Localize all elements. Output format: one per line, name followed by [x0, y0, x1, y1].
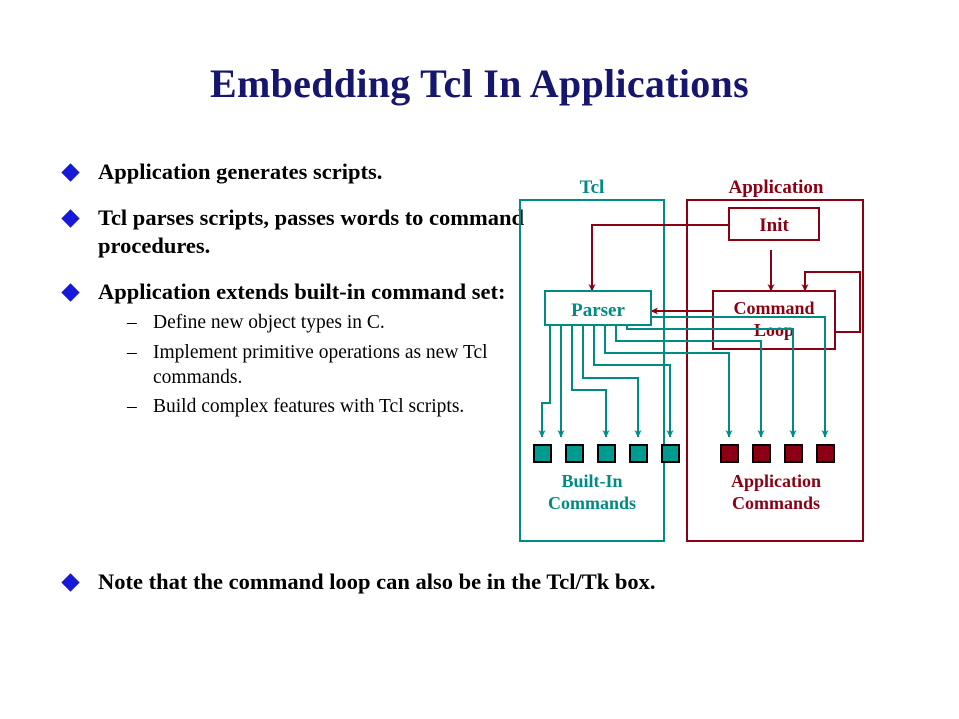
application-panel-label: Application [728, 177, 823, 198]
list-item: Tcl parses scripts, passes words to comm… [60, 204, 530, 261]
sub-bullet-text: Build complex features with Tcl scripts. [153, 394, 530, 419]
diamond-bullet-icon [61, 283, 79, 301]
builtin-command-square [662, 445, 679, 462]
diamond-bullet-icon [61, 163, 79, 181]
sub-list-item: – Build complex features with Tcl script… [98, 394, 530, 419]
application-command-square [721, 445, 738, 462]
builtin-command-square [566, 445, 583, 462]
dash-bullet-icon: – [127, 394, 153, 419]
builtin-commands-label-line1: Built-In [561, 471, 622, 491]
sub-list-item: – Define new object types in C. [98, 310, 530, 335]
list-item: Application generates scripts. [60, 158, 530, 187]
note-list-item: Note that the command loop can also be i… [60, 568, 910, 597]
tcl-panel-label: Tcl [580, 177, 605, 198]
parser-box-label: Parser [571, 300, 625, 321]
dash-bullet-icon: – [127, 310, 153, 335]
note-text: Note that the command loop can also be i… [98, 568, 910, 597]
embedding-architecture-diagram: Tcl Application Init Command Loop Parser… [505, 160, 885, 560]
builtin-command-square [598, 445, 615, 462]
init-to-parser-arrow [592, 225, 729, 291]
dash-bullet-icon: – [127, 340, 153, 365]
sub-bullet-text: Define new object types in C. [153, 310, 530, 335]
diamond-bullet-icon [61, 209, 79, 227]
builtin-commands-label-line2: Commands [548, 493, 636, 513]
sub-bullet-list: – Define new object types in C. – Implem… [98, 310, 530, 419]
sub-bullet-text: Implement primitive operations as new Tc… [153, 340, 530, 391]
bullet-list: Application generates scripts. Tcl parse… [60, 158, 530, 437]
application-command-square [785, 445, 802, 462]
application-command-square [753, 445, 770, 462]
bullet-text: Tcl parses scripts, passes words to comm… [98, 204, 530, 261]
parser-to-builtin-3 [572, 325, 606, 437]
diamond-bullet-icon [61, 573, 79, 591]
page-title: Embedding Tcl In Applications [0, 62, 959, 106]
application-commands-label-line1: Application [731, 471, 821, 491]
builtin-command-square [630, 445, 647, 462]
parser-to-builtin-1 [542, 325, 550, 437]
command-loop-label-line1: Command [733, 298, 814, 318]
list-item: Application extends built-in command set… [60, 278, 530, 420]
application-command-square [817, 445, 834, 462]
bullet-text: Application extends built-in command set… [98, 278, 530, 307]
builtin-command-square [534, 445, 551, 462]
bullet-text: Application generates scripts. [98, 158, 530, 187]
application-commands-label-line2: Commands [732, 493, 820, 513]
init-box-label: Init [759, 215, 789, 236]
sub-list-item: – Implement primitive operations as new … [98, 340, 530, 391]
